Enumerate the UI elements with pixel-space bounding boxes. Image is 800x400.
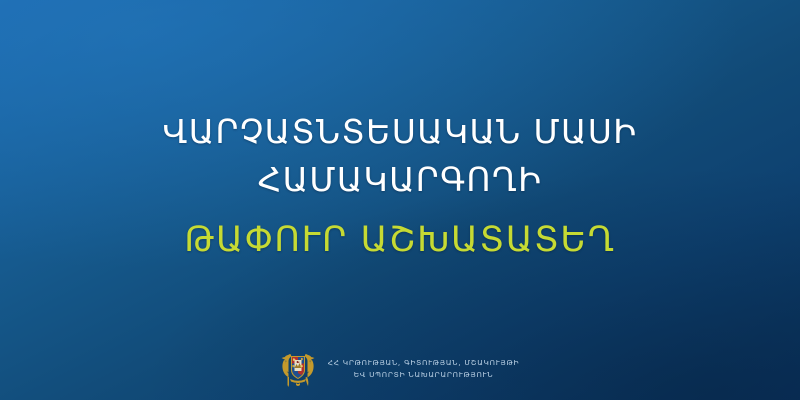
headline-line-1: ՎԱՐՉԱՏՆՏԵՍԱԿԱՆ ՄԱՍԻ xyxy=(0,108,800,156)
armenian-coat-of-arms-icon xyxy=(281,348,315,388)
headline-line-2: ՀԱՄԱԿԱՐԳՈՂԻ xyxy=(0,156,800,204)
announcement-banner: ՎԱՐՉԱՏՆՏԵՍԱԿԱՆ ՄԱՍԻ ՀԱՄԱԿԱՐԳՈՂԻ ԹԱՓՈՒՐ Ա… xyxy=(0,0,800,400)
headline-block: ՎԱՐՉԱՏՆՏԵՍԱԿԱՆ ՄԱՍԻ ՀԱՄԱԿԱՐԳՈՂԻ ԹԱՓՈՒՐ Ա… xyxy=(0,108,800,268)
ministry-lockup: ՀՀ ԿՐԹՈՒԹՅԱՆ, ԳԻՏՈՒԹՅԱՆ, ՄՇԱԿՈՒՅԹԻ ԵՎ ՍՊ… xyxy=(0,348,800,388)
ministry-name-line-1: ՀՀ ԿՐԹՈՒԹՅԱՆ, ԳԻՏՈՒԹՅԱՆ, ՄՇԱԿՈՒՅԹԻ xyxy=(328,357,520,368)
ministry-name: ՀՀ ԿՐԹՈՒԹՅԱՆ, ԳԻՏՈՒԹՅԱՆ, ՄՇԱԿՈՒՅԹԻ ԵՎ ՍՊ… xyxy=(328,357,520,380)
headline-line-3-vacancy: ԹԱՓՈՒՐ ԱՇԽԱՏԱՏԵՂ xyxy=(0,204,800,268)
ministry-name-line-2: ԵՎ ՍՊՈՐՏԻ ՆԱԽԱՐԱՐՈՒԹՅՈՒՆ xyxy=(354,369,494,380)
